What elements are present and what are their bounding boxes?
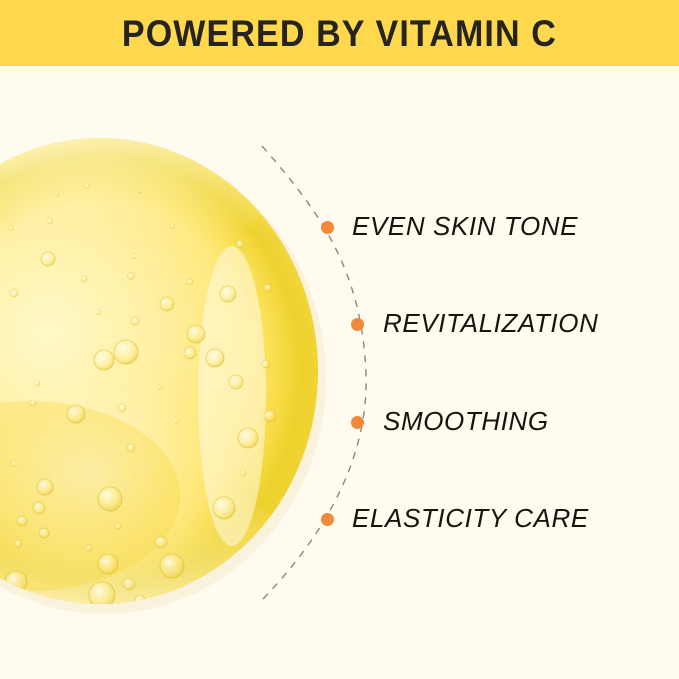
feature-label-even-skin-tone: EVEN SKIN TONE (352, 213, 578, 239)
feature-item-even-skin-tone[interactable]: EVEN SKIN TONE (352, 213, 578, 239)
feature-dot-elasticity-care[interactable] (321, 513, 334, 526)
vitamin-c-infographic: POWERED BY VITAMIN C (0, 0, 679, 679)
dashed-connector-arc (0, 0, 679, 679)
feature-item-elasticity-care[interactable]: ELASTICITY CARE (352, 505, 589, 531)
feature-label-revitalization: REVITALIZATION (383, 310, 598, 336)
feature-dot-even-skin-tone[interactable] (321, 221, 334, 234)
feature-label-elasticity-care: ELASTICITY CARE (352, 505, 589, 531)
feature-item-smoothing[interactable]: SMOOTHING (383, 408, 549, 434)
feature-dot-revitalization[interactable] (351, 318, 364, 331)
arc-path (262, 146, 366, 600)
feature-dot-smoothing[interactable] (351, 416, 364, 429)
feature-item-revitalization[interactable]: REVITALIZATION (383, 310, 598, 336)
feature-label-smoothing: SMOOTHING (383, 408, 549, 434)
